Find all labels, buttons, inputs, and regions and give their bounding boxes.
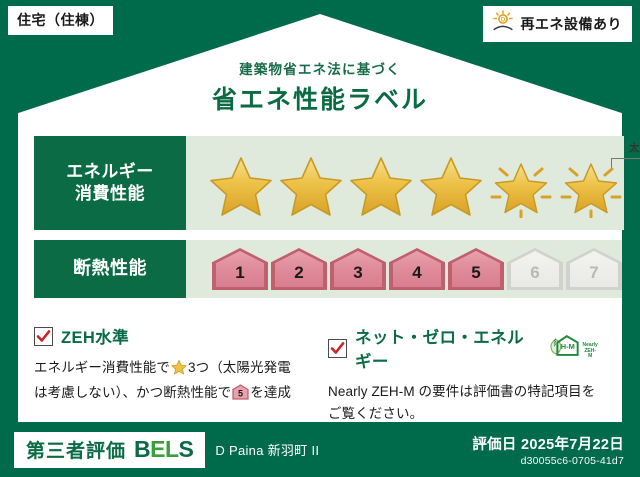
renewable-equipment-tag: D 再エネ設備あり [483, 6, 633, 42]
sun-solar-icon: D [491, 10, 515, 37]
dwelling-type-tag: 住宅（住棟） [8, 6, 113, 35]
badge-value: 7 [589, 263, 598, 290]
badge-value: 5 [471, 263, 480, 290]
zeh-m-mark: H-M Nearly ZEH-M [545, 333, 598, 363]
gold-star-icon [171, 359, 187, 382]
evaluation-info: 評価日 2025年7月22日 d30055c6-0705-41d7 [472, 433, 624, 467]
insulation-row-label: 断熱性能 [34, 240, 186, 298]
energy-row-label: エネルギー 消費性能 [34, 136, 186, 230]
energy-performance-row: エネルギー 消費性能 太陽光発電(自家消費)分 [34, 136, 606, 230]
insulation-grade-badge: 5 [448, 248, 504, 290]
solar-star-icon [558, 154, 624, 218]
insulation-grade-badge: 3 [330, 248, 386, 290]
solar-caption: 太陽光発電(自家消費)分 [606, 140, 640, 155]
energy-row-body: 太陽光発電(自家消費)分 [186, 136, 624, 230]
star-icon [418, 154, 484, 218]
footer: 第三者評価 BELS D Paina 新羽町 II 評価日 2025年7月22日… [0, 422, 640, 477]
badge-value: 4 [412, 263, 421, 290]
net-zero-energy-note: ネット・ゼロ・エネルギー H-M Nearly ZEH-M Nearly ZEH… [328, 324, 598, 425]
zeh-m-sub-line2: ZEH-M [582, 349, 598, 360]
insulation-row-body: 1234567 [186, 240, 622, 298]
insulation-grade-badge: 4 [389, 248, 445, 290]
nze-note-header: ネット・ゼロ・エネルギー H-M Nearly ZEH-M [328, 324, 598, 372]
star-icon [278, 154, 344, 218]
zeh-body-part1: エネルギー消費性能で [34, 360, 170, 375]
insulation-grade-badge: 2 [271, 248, 327, 290]
bels-letter-s: S [179, 436, 194, 462]
checkbox-checked-icon[interactable] [328, 339, 347, 358]
nze-note-title: ネット・ゼロ・エネルギー [355, 324, 535, 372]
svg-text:D: D [500, 18, 505, 24]
badge-value: 6 [530, 263, 539, 290]
star-icon [208, 154, 274, 218]
insulation-grade-badge: 6 [507, 248, 563, 290]
zeh-note-title: ZEH水準 [61, 324, 129, 348]
insulation-grade-badge: 7 [566, 248, 622, 290]
zeh-m-mark-text: H-M [560, 342, 574, 351]
bels-logo: 第三者評価 BELS [14, 432, 205, 468]
zeh-body-part3: を達成 [250, 385, 291, 400]
inline-grade-badge-icon: 5 [232, 384, 249, 407]
zeh-m-house-icon: H-M [545, 333, 581, 363]
star-icon [348, 154, 414, 218]
building-name: D Paina 新羽町 II [215, 440, 319, 459]
evaluation-id: d30055c6-0705-41d7 [472, 455, 624, 467]
solar-star-icon [488, 154, 554, 218]
energy-performance-label: 住宅（住棟） D 再エネ設備あり 建築物省エネ法に基づく 省エネ性能ラベル [0, 0, 640, 477]
badge-value: 1 [235, 263, 244, 290]
bels-letter-b: B [134, 436, 150, 462]
insulation-performance-row: 断熱性能 1234567 [34, 240, 606, 298]
star-rating [186, 154, 624, 218]
zeh-standard-note: ZEH水準 エネルギー消費性能で 3つ（太陽光発電は考慮しない）、かつ断熱性能で… [34, 324, 304, 407]
renewable-tag-label: 再エネ設備あり [521, 14, 623, 34]
label-title: 省エネ性能ラベル [0, 80, 640, 116]
insulation-grade-list: 1234567 [186, 248, 622, 290]
checkbox-checked-icon[interactable] [34, 327, 53, 346]
badge-value: 2 [294, 263, 303, 290]
bels-jp-label: 第三者評価 [26, 436, 126, 463]
insulation-grade-badge: 1 [212, 248, 268, 290]
zeh-note-body: エネルギー消費性能で 3つ（太陽光発電は考慮しない）、かつ断熱性能で 5 を達成 [34, 357, 304, 407]
bels-letter-el: EL [150, 436, 178, 462]
label-subtitle: 建築物省エネ法に基づく [0, 58, 640, 78]
inline-grade-value: 5 [238, 388, 243, 398]
bels-en-label: BELS [134, 436, 193, 463]
badge-value: 3 [353, 263, 362, 290]
evaluation-date: 評価日 2025年7月22日 [472, 433, 624, 454]
zeh-note-header: ZEH水準 [34, 324, 304, 348]
nze-note-body: Nearly ZEH-M の要件は評価書の特記項目をご覧ください。 [328, 381, 598, 425]
